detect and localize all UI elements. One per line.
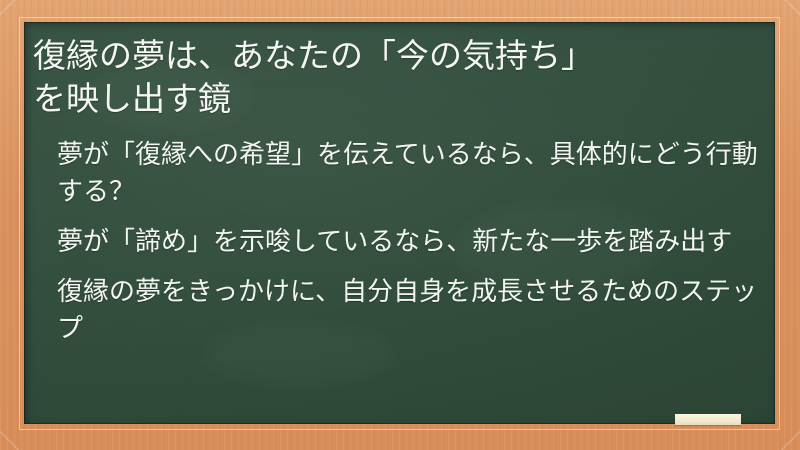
chalk-piece-icon (675, 414, 741, 425)
frame-miter-top-right (779, 0, 800, 23)
chalkboard-wooden-frame: 復縁の夢は、あなたの「今の気持ち」 を映し出す鏡 夢が「復縁への希望」を伝えてい… (0, 0, 800, 450)
bullet-list: 夢が「復縁への希望」を伝えているなら、具体的にどう行動する？ 夢が「諦め」を示唆… (33, 136, 761, 347)
list-item: 夢が「諦め」を示唆しているなら、新たな一歩を踏み出す (57, 223, 761, 260)
chalkboard-slate: 復縁の夢は、あなたの「今の気持ち」 を映し出す鏡 夢が「復縁への希望」を伝えてい… (24, 22, 775, 424)
page-title: 復縁の夢は、あなたの「今の気持ち」 を映し出す鏡 (33, 34, 761, 120)
frame-miter-bottom-right (779, 423, 800, 450)
frame-miter-top-left (0, 0, 21, 23)
slide-content: 復縁の夢は、あなたの「今の気持ち」 を映し出す鏡 夢が「復縁への希望」を伝えてい… (24, 22, 775, 424)
frame-miter-bottom-left (0, 423, 21, 450)
list-item: 復縁の夢をきっかけに、自分自身を成長させるためのステップ (57, 273, 761, 347)
list-item: 夢が「復縁への希望」を伝えているなら、具体的にどう行動する？ (57, 136, 761, 210)
